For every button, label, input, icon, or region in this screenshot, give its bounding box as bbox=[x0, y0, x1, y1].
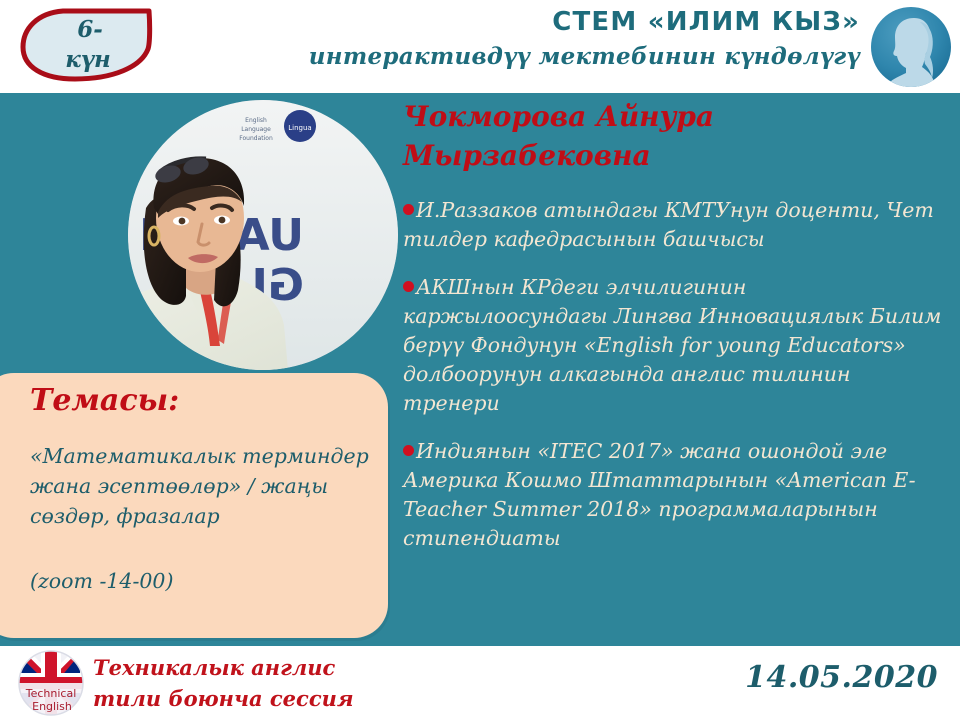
svg-text:Lingua: Lingua bbox=[288, 124, 311, 132]
header-title-block: СТЕМ «ИЛИМ КЫЗ» интерактивдүү мектебинин… bbox=[220, 4, 860, 74]
footer-caption-line1: Техникалык англис bbox=[93, 652, 354, 683]
bio-bullet-item: АКШнын КРдеги элчилигинин каржылоосундаг… bbox=[403, 273, 951, 418]
bullet-dot-icon bbox=[403, 445, 414, 456]
technical-english-uk-flag-logo-icon: Technical English bbox=[18, 650, 84, 716]
logo-line1-text: Technical bbox=[25, 687, 77, 700]
bio-bullet-text: Индиянын «ITEC 2017» жана ошондой эле Ам… bbox=[403, 439, 916, 550]
speaker-name-line2: Мырзабековна bbox=[403, 136, 943, 175]
topic-body-text: «Математикалык терминдер жана эсептөөлөр… bbox=[30, 441, 370, 531]
footer-caption: Техникалык англис тили боюнча сессия bbox=[93, 652, 354, 714]
speaker-bio-bullets: И.Раззаков атындагы КМТУнун доценти, Чет… bbox=[403, 196, 951, 572]
day-badge-shape-icon bbox=[17, 5, 157, 85]
topic-zoom-note: (zoom -14-00) bbox=[30, 569, 173, 593]
woman-profile-avatar-icon bbox=[870, 6, 952, 88]
topic-card: Темасы: «Математикалык терминдер жана эс… bbox=[0, 373, 388, 638]
slide-root: 6- күн СТЕМ «ИЛИМ КЫЗ» интерактивдүү мек… bbox=[0, 0, 960, 720]
speaker-name: Чокморова Айнура Мырзабековна bbox=[403, 97, 943, 175]
bio-bullet-item: Индиянын «ITEC 2017» жана ошондой эле Ам… bbox=[403, 437, 951, 553]
speaker-name-line1: Чокморова Айнура bbox=[403, 97, 943, 136]
bio-bullet-text: АКШнын КРдеги элчилигинин каржылоосундаг… bbox=[403, 275, 941, 415]
topic-title: Темасы: bbox=[30, 383, 179, 418]
day-number-badge: 6- күн bbox=[17, 5, 157, 85]
bullet-dot-icon bbox=[403, 204, 414, 215]
svg-text:Foundation: Foundation bbox=[239, 135, 273, 142]
svg-text:English: English bbox=[245, 117, 267, 124]
bullet-dot-icon bbox=[403, 281, 414, 292]
slide-footer: Technical English Техникалык англис тили… bbox=[0, 646, 960, 720]
session-date: 14.05.2020 bbox=[745, 660, 938, 695]
bio-bullet-text: И.Раззаков атындагы КМТУнун доценти, Чет… bbox=[403, 198, 934, 251]
slide-header: 6- күн СТЕМ «ИЛИМ КЫЗ» интерактивдүү мек… bbox=[0, 0, 960, 93]
speaker-portrait-photo: UAL IN GLIS Lingua English Language Foun… bbox=[128, 100, 398, 370]
header-title-line2: интерактивдүү мектебинин күндөлүгү bbox=[220, 40, 860, 74]
logo-line2-text: English bbox=[32, 700, 72, 713]
svg-text:Language: Language bbox=[241, 126, 271, 133]
footer-caption-line2: тили боюнча сессия bbox=[93, 683, 354, 714]
bio-bullet-item: И.Раззаков атындагы КМТУнун доценти, Чет… bbox=[403, 196, 951, 254]
header-title-line1: СТЕМ «ИЛИМ КЫЗ» bbox=[220, 4, 860, 40]
